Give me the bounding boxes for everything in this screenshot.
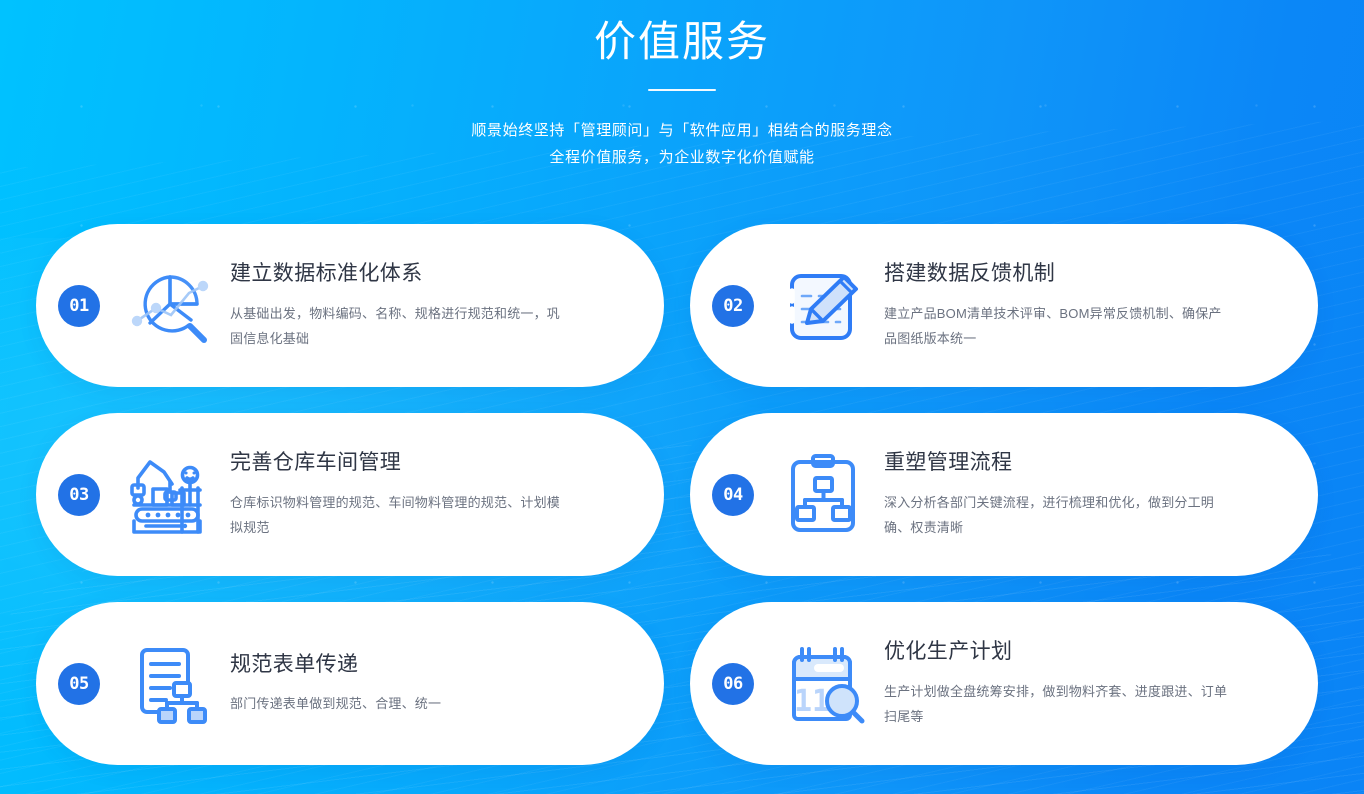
service-card[interactable]: 05 规范表单传递 部门传递表单做到规范	[36, 602, 664, 765]
card-title: 完善仓库车间管理	[230, 450, 624, 475]
factory-assembly-line-icon	[118, 445, 222, 545]
card-description: 从基础出发，物料编码、名称、规格进行规范和统一，巩固信息化基础	[230, 301, 560, 351]
subtitle-line-2: 全程价值服务，为企业数字化价值赋能	[0, 144, 1364, 171]
pie-chart-magnifier-icon	[118, 256, 222, 356]
card-number-badge: 03	[58, 474, 100, 516]
card-title: 重塑管理流程	[884, 450, 1278, 475]
card-number-badge: 05	[58, 663, 100, 705]
service-card[interactable]: 04 重塑管理流程 深入分析各部门关键流程，进行梳理和优化，做到分工明确、权责清…	[690, 413, 1318, 576]
card-number-badge: 01	[58, 285, 100, 327]
card-title: 搭建数据反馈机制	[884, 261, 1278, 286]
card-description: 生产计划做全盘统筹安排，做到物料齐套、进度跟进、订单扫尾等	[884, 679, 1229, 729]
card-text-block: 优化生产计划 生产计划做全盘统筹安排，做到物料齐套、进度跟进、订单扫尾等	[876, 639, 1318, 728]
card-text-block: 搭建数据反馈机制 建立产品BOM清单技术评审、BOM异常反馈机制、确保产品图纸版…	[876, 261, 1318, 350]
card-number-badge: 04	[712, 474, 754, 516]
card-title: 规范表单传递	[230, 652, 624, 677]
card-title: 建立数据标准化体系	[230, 261, 624, 286]
card-text-block: 规范表单传递 部门传递表单做到规范、合理、统一	[222, 652, 664, 716]
page-subtitle: 顺景始终坚持「管理顾问」与「软件应用」相结合的服务理念 全程价值服务，为企业数字…	[0, 117, 1364, 171]
page-header: 价值服务 顺景始终坚持「管理顾问」与「软件应用」相结合的服务理念 全程价值服务，…	[0, 0, 1364, 171]
service-card[interactable]: 06 11 优化生产计划 生产计划做全盘统筹安排，做到物料齐套、进度跟进、订	[690, 602, 1318, 765]
title-divider	[648, 89, 716, 91]
card-description: 建立产品BOM清单技术评审、BOM异常反馈机制、确保产品图纸版本统一	[884, 301, 1229, 351]
card-text-block: 建立数据标准化体系 从基础出发，物料编码、名称、规格进行规范和统一，巩固信息化基…	[222, 261, 664, 350]
card-title: 优化生产计划	[884, 639, 1278, 664]
card-description: 仓库标识物料管理的规范、车间物料管理的规范、计划模拟规范	[230, 490, 560, 540]
card-description: 部门传递表单做到规范、合理、统一	[230, 691, 560, 716]
card-text-block: 完善仓库车间管理 仓库标识物料管理的规范、车间物料管理的规范、计划模拟规范	[222, 450, 664, 539]
svg-text:11: 11	[794, 684, 830, 719]
calendar-magnifier-icon: 11	[772, 634, 876, 734]
card-text-block: 重塑管理流程 深入分析各部门关键流程，进行梳理和优化，做到分工明确、权责清晰	[876, 450, 1318, 539]
service-card[interactable]: 03	[36, 413, 664, 576]
document-hierarchy-icon	[118, 634, 222, 734]
service-card-grid: 01 建立数据标准化体系 从基础出发，物料编码、名称、规	[36, 171, 1328, 765]
document-pencil-icon	[772, 256, 876, 356]
clipboard-hierarchy-icon	[772, 445, 876, 545]
service-card[interactable]: 02 搭建数据反馈机制 建立产品BOM清单技术评审、BOM异	[690, 224, 1318, 387]
card-description: 深入分析各部门关键流程，进行梳理和优化，做到分工明确、权责清晰	[884, 490, 1229, 540]
page-title: 价值服务	[0, 14, 1364, 69]
card-number-badge: 06	[712, 663, 754, 705]
service-card[interactable]: 01 建立数据标准化体系 从基础出发，物料编码、名称、规	[36, 224, 664, 387]
card-number-badge: 02	[712, 285, 754, 327]
subtitle-line-1: 顺景始终坚持「管理顾问」与「软件应用」相结合的服务理念	[0, 117, 1364, 144]
